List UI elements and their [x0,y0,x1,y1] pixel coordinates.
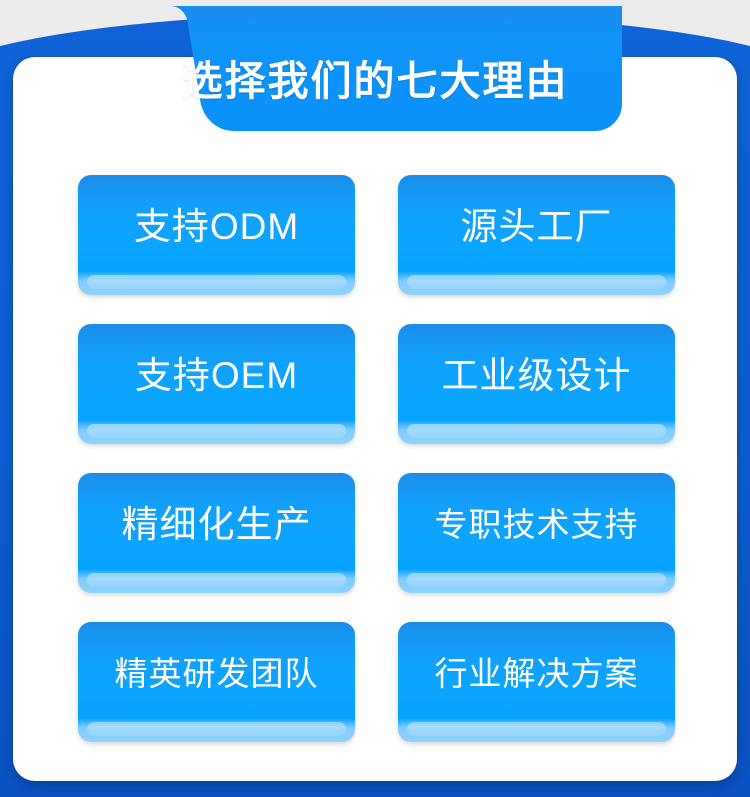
reason-card-label: 工业级设计 [442,357,632,394]
reason-card-label: 支持OEM [135,357,298,394]
reason-card[interactable]: 源头工厂 [398,175,675,295]
promo-poster: 选择我们的七大理由 支持ODM 源头工厂 支持OEM 工业级设计 精细化生产 专… [0,0,750,797]
reason-card-label: 支持ODM [134,208,299,245]
reason-card[interactable]: 工业级设计 [398,324,675,444]
reason-card-label: 专职技术支持 [435,508,639,541]
reason-card[interactable]: 支持OEM [78,324,355,444]
reasons-grid: 支持ODM 源头工厂 支持OEM 工业级设计 精细化生产 专职技术支持 精英研发… [78,175,676,742]
reason-card[interactable]: 精英研发团队 [78,622,355,742]
page-title: 选择我们的七大理由 [128,6,622,132]
reason-card[interactable]: 行业解决方案 [398,622,675,742]
reason-card[interactable]: 精细化生产 [78,473,355,593]
reason-card[interactable]: 支持ODM [78,175,355,295]
reason-card-label: 精英研发团队 [115,657,319,690]
reason-card[interactable]: 专职技术支持 [398,473,675,593]
reason-card-label: 行业解决方案 [435,657,639,690]
reason-card-label: 源头工厂 [461,208,613,245]
reason-card-label: 精细化生产 [122,506,312,543]
header-banner: 选择我们的七大理由 [128,6,622,132]
